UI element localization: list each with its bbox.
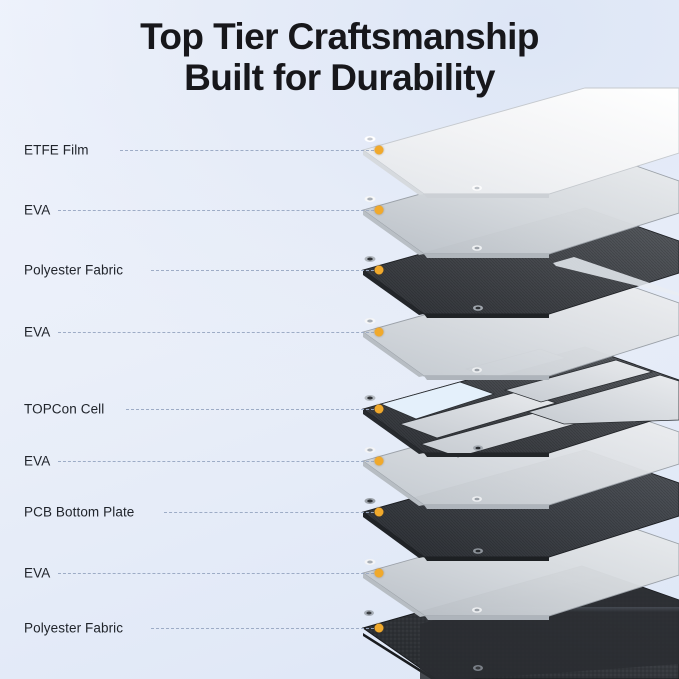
page-title: Top Tier Craftsmanship Built for Durabil… <box>0 16 679 99</box>
callout-dot-9 <box>375 624 384 633</box>
callout-dot-3 <box>375 266 384 275</box>
layer-label-pcb-bottom-plate: PCB Bottom Plate <box>24 505 134 520</box>
leader-line-6 <box>58 461 379 462</box>
leader-line-8 <box>58 573 379 574</box>
layer-label-topcon-cell: TOPCon Cell <box>24 402 104 417</box>
callout-dot-6 <box>375 457 384 466</box>
leader-line-2 <box>58 210 379 211</box>
layer-label-eva-8: EVA <box>24 566 50 581</box>
leader-line-7 <box>164 512 379 513</box>
layer-label-etfe-film: ETFE Film <box>24 143 89 158</box>
leader-line-3 <box>151 270 379 271</box>
leader-line-5 <box>126 409 379 410</box>
callout-dot-8 <box>375 569 384 578</box>
layer-label-eva-2: EVA <box>24 203 50 218</box>
layer-label-eva-6: EVA <box>24 454 50 469</box>
callout-dot-1 <box>375 146 384 155</box>
callout-dot-7 <box>375 508 384 517</box>
callout-dot-2 <box>375 206 384 215</box>
leader-line-1 <box>120 150 379 151</box>
promo-graphic: Top Tier Craftsmanship Built for Durabil… <box>0 0 679 679</box>
exploded-layer-illustration <box>0 0 679 679</box>
layer-label-polyester-fabric-9: Polyester Fabric <box>24 621 123 636</box>
callout-dot-5 <box>375 405 384 414</box>
layer-label-eva-4: EVA <box>24 325 50 340</box>
leader-line-4 <box>58 332 379 333</box>
leader-line-9 <box>151 628 379 629</box>
callout-dot-4 <box>375 328 384 337</box>
layer-label-polyester-fabric-3: Polyester Fabric <box>24 263 123 278</box>
